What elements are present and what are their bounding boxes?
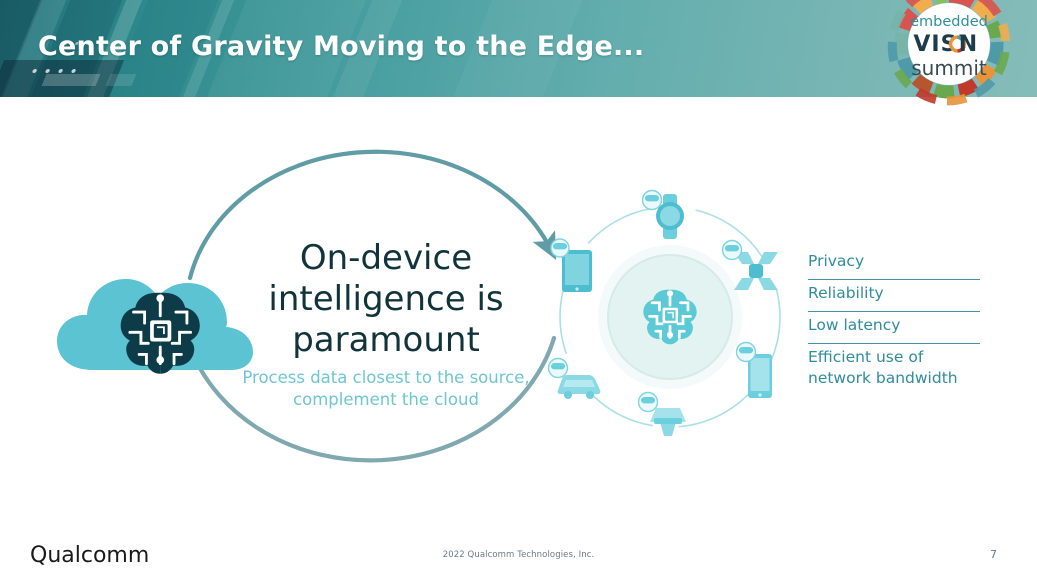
brain-badge-icon (639, 393, 658, 412)
brain-badge-icon (549, 359, 568, 378)
edge-device-ring (540, 182, 800, 452)
benefit-item-bandwidth: Efficient use of network bandwidth (808, 344, 980, 396)
device-car (549, 359, 601, 400)
benefit-item-privacy: Privacy (808, 248, 980, 280)
logo-line-vision-n: N (959, 32, 977, 57)
device-smartphone (737, 343, 773, 399)
logo-line-embedded: embedded (910, 14, 988, 30)
device-tablet (551, 239, 592, 292)
brain-badge-icon (737, 343, 756, 362)
benefit-item-low-latency: Low latency (808, 312, 980, 344)
brain-badge-icon (643, 191, 662, 210)
headline-text: On-device intelligence is paramount (236, 238, 536, 361)
device-smartwatch (643, 191, 685, 240)
benefit-item-reliability: Reliability (808, 280, 980, 312)
brain-badge-icon (551, 239, 569, 257)
embedded-vision-summit-logo: embedded VISI N summit (866, 0, 1032, 106)
subheadline-text: Process data closest to the source, comp… (228, 367, 544, 411)
page-title: Center of Gravity Moving to the Edge... (38, 31, 644, 62)
slide: Center of Gravity Moving to the Edge... (0, 0, 1037, 583)
copyright-note: 2022 Qualcomm Technologies, Inc. (0, 550, 1037, 560)
device-robot-vacuum (639, 393, 687, 437)
brain-badge-icon (723, 241, 742, 260)
header-accent-bar (106, 74, 137, 86)
page-number: 7 (990, 548, 997, 561)
benefits-list: Privacy Reliability Low latency Efficien… (808, 248, 980, 396)
logo-line-summit: summit (911, 56, 987, 80)
